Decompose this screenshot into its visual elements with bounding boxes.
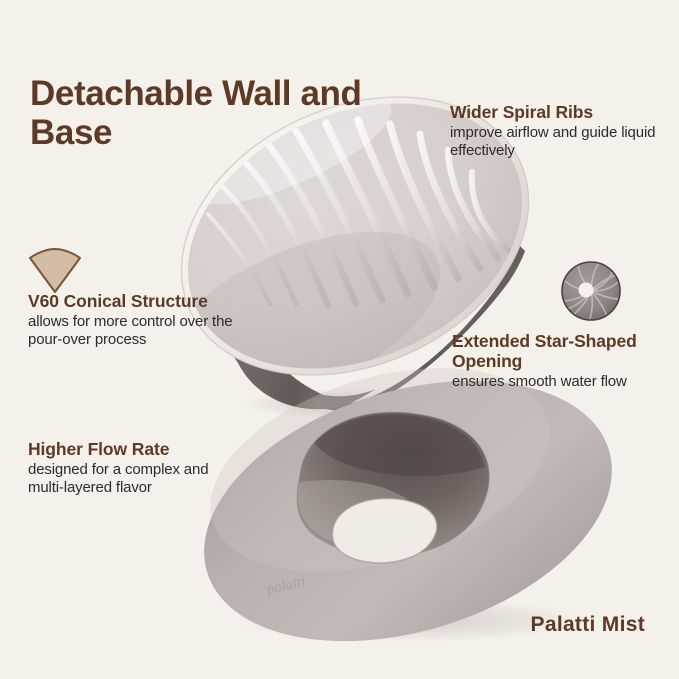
callout-body-spiral-ribs: improve airflow and guide liquid effecti… [450,124,670,160]
callout-v60-conical-structure: V60 Conical Structure allows for more co… [28,292,268,349]
cone-wedge-icon [26,246,84,296]
callout-body-flow-rate: designed for a complex and multi-layered… [28,461,243,497]
callout-higher-flow-rate: Higher Flow Rate designed for a complex … [28,440,243,497]
base-center-hole [332,498,437,563]
callout-body-v60: allows for more control over the pour-ov… [28,313,268,349]
brand-name: Palatti Mist [531,613,645,637]
embossed-brand-logo: palatti [264,573,307,598]
callout-title-star-opening: Extended Star-Shaped Opening [452,332,668,372]
product-infographic: palatti Detachable Wall and Base Wider S… [0,0,679,679]
callout-title-v60: V60 Conical Structure [28,292,268,312]
page-title: Detachable Wall and Base [30,75,410,152]
spiral-disc-icon [559,259,623,323]
callout-title-flow-rate: Higher Flow Rate [28,440,243,460]
callout-body-star-opening: ensures smooth water flow [452,373,668,391]
cone-drop-shadow [230,388,470,420]
callout-title-spiral-ribs: Wider Spiral Ribs [450,103,670,123]
callout-star-shaped-opening: Extended Star-Shaped Opening ensures smo… [452,332,668,391]
callout-spiral-ribs: Wider Spiral Ribs improve airflow and gu… [450,103,670,160]
base-funnel [240,384,530,560]
